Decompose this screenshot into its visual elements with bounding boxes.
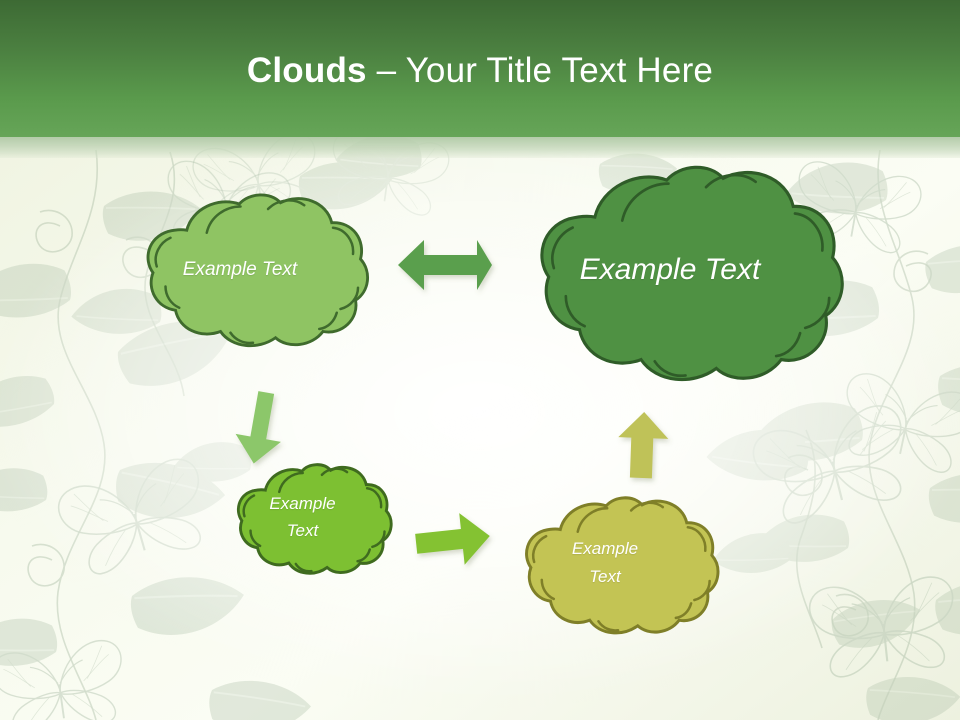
cloud-2[interactable] <box>542 167 842 379</box>
slide-canvas: Clouds – Your Title Text Here <box>0 0 960 720</box>
arrow-right-icon <box>413 510 492 569</box>
cloud-cycle-diagram <box>0 0 960 720</box>
arrow-left-icon <box>398 240 492 290</box>
arrow-down-icon <box>231 389 289 468</box>
cloud-4[interactable] <box>527 498 718 633</box>
cloud-3[interactable] <box>238 465 391 574</box>
cloud-1[interactable] <box>148 195 368 346</box>
arrow-up-icon <box>617 411 669 479</box>
